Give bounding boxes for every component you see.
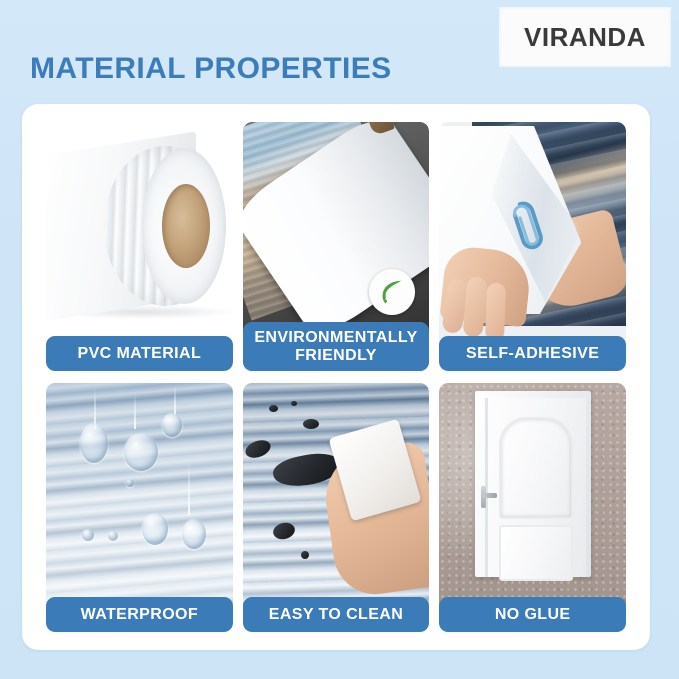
feature-tile-pvc-material[interactable]: PVC MATERIAL (46, 122, 233, 371)
feature-label-environmentally-friendly: ENVIRONMENTALLY FRIENDLY (243, 322, 430, 371)
pvc-roll-image (46, 122, 233, 371)
self-adhesive-peel-image (439, 122, 626, 371)
feature-tile-environmentally-friendly[interactable]: ENVIRONMENTALLY FRIENDLY (243, 122, 430, 371)
waterproof-droplets-image (46, 383, 233, 632)
feature-tile-self-adhesive[interactable]: SELF-ADHESIVE (439, 122, 626, 371)
feature-label-pvc-material: PVC MATERIAL (46, 336, 233, 371)
feature-grid: PVC MATERIAL (46, 122, 626, 632)
feature-label-self-adhesive: SELF-ADHESIVE (439, 336, 626, 371)
feature-tile-easy-to-clean[interactable]: EASY TO CLEAN (243, 383, 430, 632)
feature-card: PVC MATERIAL (22, 104, 650, 650)
feature-label-waterproof: WATERPROOF (46, 597, 233, 632)
brand-name: VIRANDA (524, 22, 646, 53)
feature-label-no-glue: NO GLUE (439, 597, 626, 632)
feature-tile-no-glue[interactable]: NO GLUE (439, 383, 626, 632)
no-glue-door-image (439, 383, 626, 632)
feature-tile-waterproof[interactable]: WATERPROOF (46, 383, 233, 632)
brand-logo-box: VIRANDA (500, 8, 670, 66)
leaf-icon (369, 269, 415, 315)
page-title: MATERIAL PROPERTIES (30, 52, 392, 86)
easy-to-clean-wipe-image (243, 383, 430, 632)
poster-root: VIRANDA MATERIAL PROPERTIES PVC MATERIAL (0, 0, 679, 679)
feature-label-easy-to-clean: EASY TO CLEAN (243, 597, 430, 632)
